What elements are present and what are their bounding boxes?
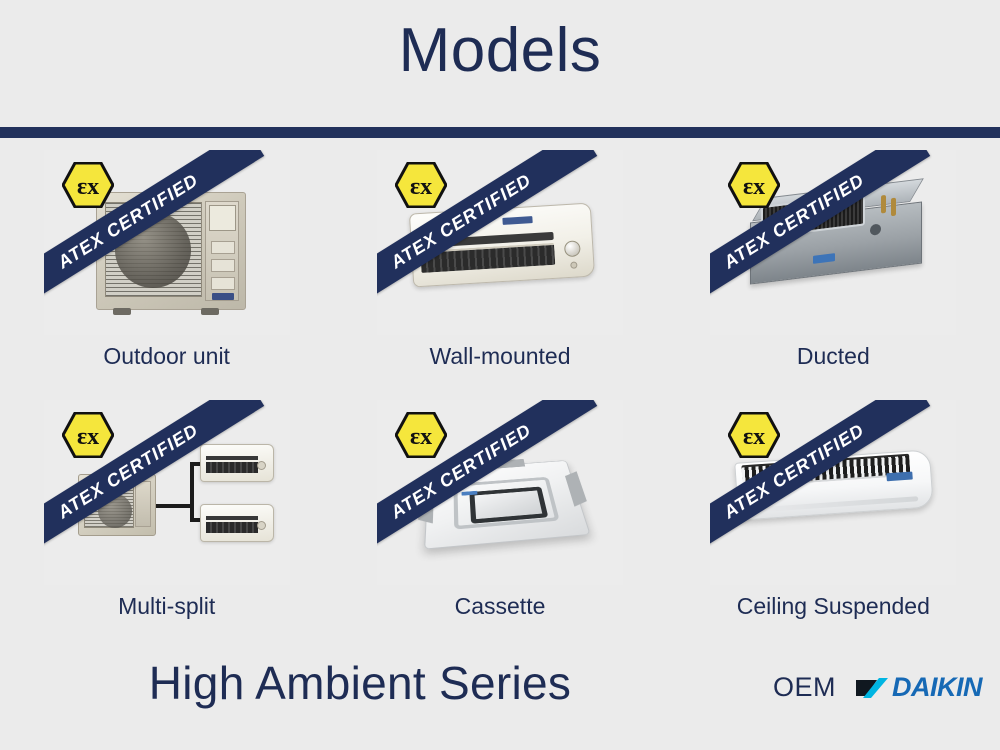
indoor-unit-upper <box>200 444 274 482</box>
switch-plate <box>211 259 235 272</box>
model-label: Ducted <box>797 343 870 370</box>
atex-ex-hexagon-icon: ɛx <box>395 412 447 458</box>
svg-text:ɛx: ɛx <box>743 174 765 200</box>
ceiling-suspended-unit-image: ATEX CERTIFIED ɛx <box>710 400 956 585</box>
svg-text:ɛx: ɛx <box>77 174 99 200</box>
service-port <box>870 223 881 235</box>
refrigerant-pipe <box>891 198 896 217</box>
mounting-bracket <box>565 471 587 506</box>
title-divider <box>0 127 1000 138</box>
atex-ex-hexagon-icon: ɛx <box>728 412 780 458</box>
upper-louver <box>206 516 258 520</box>
sensor-dot <box>570 261 577 268</box>
model-label: Wall-mounted <box>429 343 570 370</box>
model-label: Multi-split <box>118 593 215 620</box>
daikin-wordmark: DAIKIN <box>892 672 982 703</box>
model-label: Cassette <box>455 593 546 620</box>
connection-line <box>190 462 194 508</box>
connection-line <box>156 504 194 508</box>
model-card-outdoor-unit[interactable]: ATEX CERTIFIED ɛx Outdoor unit <box>0 150 333 400</box>
svg-text:ɛx: ɛx <box>410 174 432 200</box>
model-card-wall-mounted[interactable]: ATEX CERTIFIED ɛx Wall-mounted <box>333 150 666 400</box>
model-card-cassette[interactable]: ATEX CERTIFIED ɛx Cassette <box>333 400 666 650</box>
model-label: Ceiling Suspended <box>737 593 930 620</box>
svg-text:ɛx: ɛx <box>410 424 432 450</box>
air-outlet-louver <box>206 522 258 533</box>
control-knob <box>257 461 266 470</box>
oem-label: OEM <box>773 672 836 703</box>
model-card-ceiling-suspended[interactable]: ATEX CERTIFIED ɛx Ceiling Suspended <box>667 400 1000 650</box>
cassette-unit-image: ATEX CERTIFIED ɛx <box>377 400 623 585</box>
brand-plate <box>887 472 913 482</box>
multi-split-system-image: ATEX CERTIFIED ɛx <box>44 400 290 585</box>
atex-ex-hexagon-icon: ɛx <box>728 162 780 208</box>
control-knob <box>564 240 581 257</box>
upper-louver <box>206 456 258 460</box>
air-outlet-louver <box>206 462 258 473</box>
slide-footer: High Ambient Series OEM DAIKIN <box>0 650 1000 750</box>
model-label: Outdoor unit <box>103 343 230 370</box>
atex-ex-hexagon-icon: ɛx <box>395 162 447 208</box>
unit-foot <box>113 308 131 315</box>
outdoor-unit-image: ATEX CERTIFIED ɛx <box>44 150 290 335</box>
model-card-ducted[interactable]: ATEX CERTIFIED ɛx Ducted <box>667 150 1000 400</box>
page-title: Models <box>0 0 1000 83</box>
brand-plate <box>502 216 532 225</box>
daikin-mark-icon <box>854 675 890 701</box>
svg-text:ɛx: ɛx <box>77 424 99 450</box>
brand-plate <box>212 293 234 300</box>
switch-plate <box>211 277 235 290</box>
brand-row: OEM DAIKIN <box>773 672 982 703</box>
models-grid: ATEX CERTIFIED ɛx Outdoor unit <box>0 150 1000 650</box>
pipe-fittings <box>877 192 907 222</box>
ducted-unit-image: ATEX CERTIFIED ɛx <box>710 150 956 335</box>
control-knob <box>257 521 266 530</box>
series-title: High Ambient Series <box>0 656 720 710</box>
control-panel <box>135 481 151 527</box>
junction-box <box>209 205 236 231</box>
indoor-unit-lower <box>200 504 274 542</box>
refrigerant-pipe <box>881 195 886 214</box>
switch-plate <box>211 241 235 254</box>
wall-mounted-unit-image: ATEX CERTIFIED ɛx <box>377 150 623 335</box>
atex-ex-hexagon-icon: ɛx <box>62 162 114 208</box>
svg-text:ɛx: ɛx <box>743 424 765 450</box>
cassette-center-grille <box>469 487 548 524</box>
unit-foot <box>201 308 219 315</box>
brand-plate <box>813 253 835 264</box>
atex-ex-hexagon-icon: ɛx <box>62 412 114 458</box>
daikin-logo: DAIKIN <box>854 672 982 703</box>
model-card-multi-split[interactable]: ATEX CERTIFIED ɛx Multi-split <box>0 400 333 650</box>
